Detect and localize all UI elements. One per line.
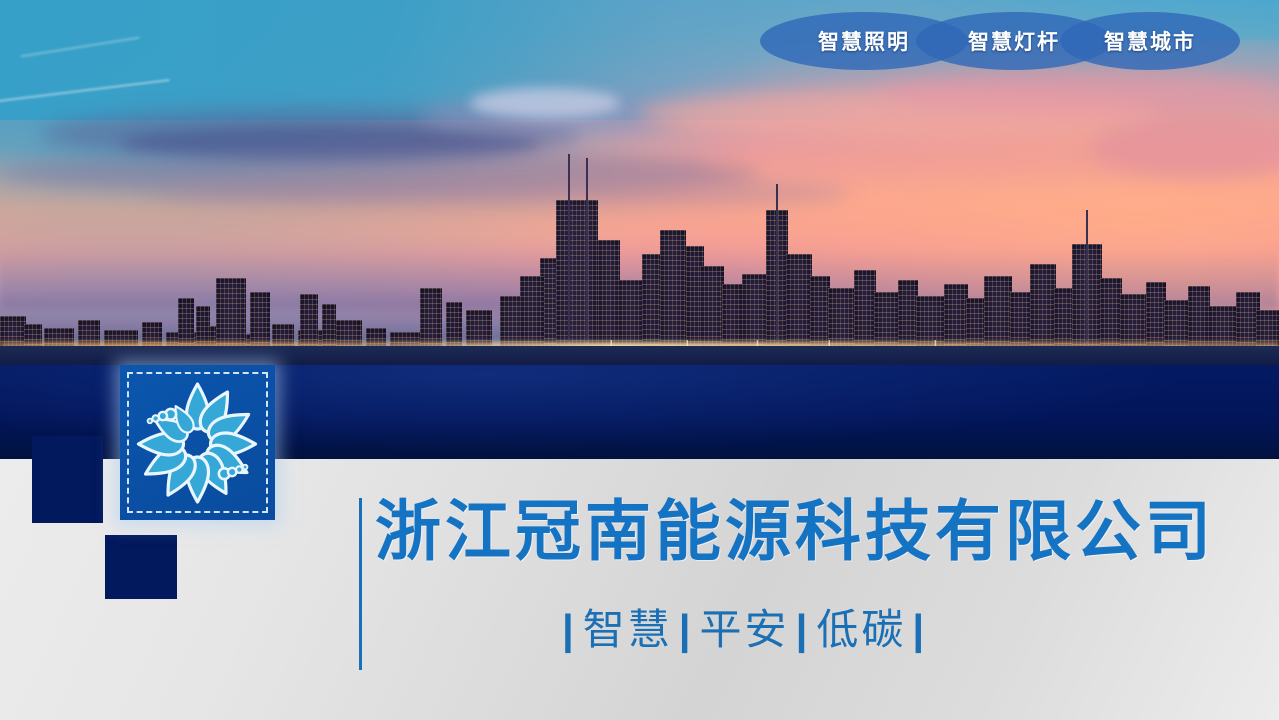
title-accent-rule xyxy=(359,498,362,670)
slogan-word-3: 低碳 xyxy=(816,606,906,653)
slogan-divider: | xyxy=(906,606,933,653)
slogan-divider: | xyxy=(556,606,583,653)
tag-pill-label: 智慧城市 xyxy=(1104,26,1196,56)
tag-pill-label: 智慧照明 xyxy=(818,26,910,56)
slogan-divider: | xyxy=(673,606,700,653)
slogan-word-2: 平安 xyxy=(700,606,790,653)
decorative-square-lower xyxy=(105,535,177,599)
company-title: 浙江冠南能源科技有限公司 xyxy=(375,492,1135,570)
cloud-band xyxy=(880,72,1279,116)
slogan-word-1: 智慧 xyxy=(583,606,673,653)
lake-water xyxy=(0,346,1279,366)
tag-pill-smart-city[interactable]: 智慧城市 xyxy=(1060,12,1240,70)
company-logo xyxy=(120,365,275,520)
tag-pill-label: 智慧灯杆 xyxy=(968,26,1060,56)
presentation-cover-slide: 智慧照明 智慧灯杆 智慧城市 xyxy=(0,0,1279,720)
decorative-square-upper xyxy=(32,436,103,523)
cloud-highlight xyxy=(470,88,620,118)
company-slogan: |智慧|平安|低碳| xyxy=(556,596,933,657)
slogan-divider: | xyxy=(790,606,817,653)
tagline-pill-group: 智慧照明 智慧灯杆 智慧城市 xyxy=(760,12,1240,70)
petal-spiral-icon xyxy=(120,365,275,520)
city-skyline xyxy=(0,136,1279,366)
